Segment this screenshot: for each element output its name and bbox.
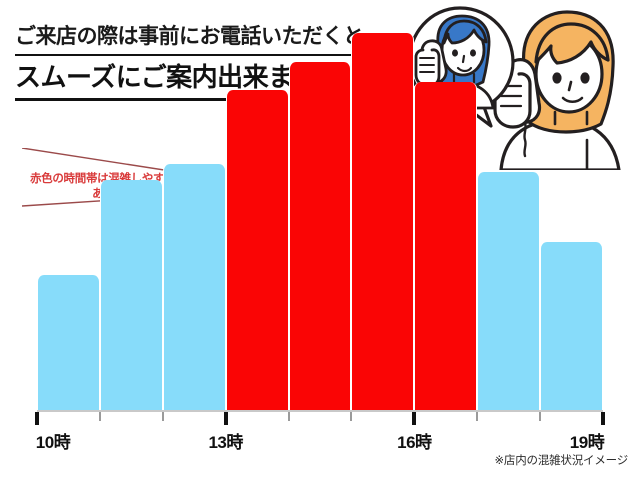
tick-major <box>224 412 228 425</box>
tick-minor <box>476 412 478 421</box>
tick-label-13時: 13時 <box>208 428 242 453</box>
tick-major <box>601 412 605 425</box>
tick-minor <box>99 412 101 421</box>
tick-minor <box>539 412 541 421</box>
bar-18時 <box>540 242 603 410</box>
bar-15時 <box>351 33 414 410</box>
tick-minor <box>162 412 164 421</box>
tick-minor <box>288 412 290 421</box>
x-axis-line <box>37 410 603 412</box>
poster-root: ご来店の際は事前にお電話いただくと スムーズにご案内出来ます！ <box>0 0 640 480</box>
tick-label-19時: 19時 <box>570 428 604 453</box>
bar-11時 <box>100 180 163 410</box>
tick-major <box>412 412 416 425</box>
bar-10時 <box>37 275 100 410</box>
bar-17時 <box>477 172 540 410</box>
tick-label-10時: 10時 <box>36 428 70 453</box>
bar-series <box>37 0 603 410</box>
bar-12時 <box>163 164 226 410</box>
bar-13時 <box>226 90 289 410</box>
footnote: ※店内の混雑状況イメージ <box>494 452 628 468</box>
bar-14時 <box>289 62 352 411</box>
bar-16時 <box>414 82 477 410</box>
congestion-bar-chart: 10時13時16時19時 <box>0 0 640 480</box>
tick-label-16時: 16時 <box>397 428 431 453</box>
tick-major <box>35 412 39 425</box>
tick-minor <box>350 412 352 421</box>
